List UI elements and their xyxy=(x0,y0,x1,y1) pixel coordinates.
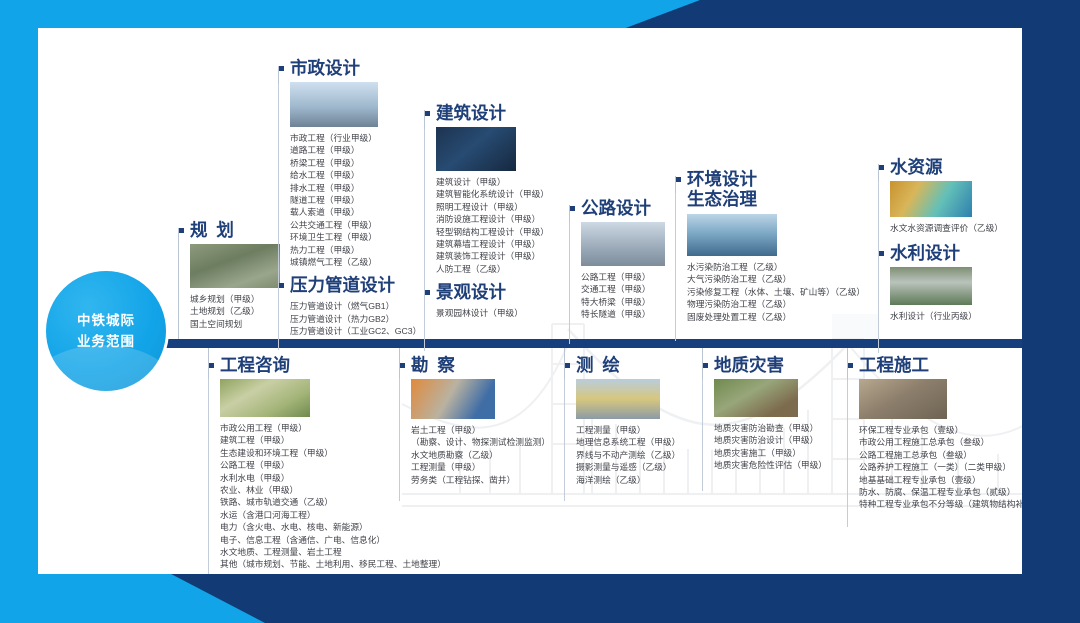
list-item: 土地规划（乙级） xyxy=(190,305,278,317)
block-rail xyxy=(675,193,676,341)
list-item: 特种工程专业承包不分等级（建筑物结构补强） xyxy=(859,498,1022,510)
block-rail xyxy=(208,379,209,574)
list-item: 消防设施工程设计（甲级） xyxy=(436,213,569,225)
square-bullet-icon xyxy=(879,165,884,170)
list-item: 地理信息系统工程（甲级） xyxy=(576,436,704,448)
list-item: 桥梁工程（甲级） xyxy=(290,157,428,169)
block-zixun-items: 市政公用工程（甲级） 建筑工程（甲级） 生态建设和环境工程（甲级） 公路工程（甲… xyxy=(220,422,408,571)
block-cehui-title-row: 测 绘 xyxy=(564,355,704,375)
list-item: 市政公用工程施工总承包（叁级） xyxy=(859,436,1022,448)
block-cehui-title: 测 绘 xyxy=(576,355,622,375)
list-item: 水运（含港口河海工程） xyxy=(220,509,408,521)
block-shigong-title-row: 工程施工 xyxy=(847,355,1022,375)
list-item: 压力管道设计（燃气GB1） xyxy=(290,300,428,312)
block-zixun-title-row: 工程咨询 xyxy=(208,355,408,375)
square-bullet-icon xyxy=(400,363,405,368)
block-jianzhu-title-row: 建筑设计 xyxy=(424,103,569,123)
block-guihua-title: 规 划 xyxy=(190,220,236,240)
block-zixun-title: 工程咨询 xyxy=(220,355,290,375)
block-shigong-title: 工程施工 xyxy=(859,355,929,375)
block-yalidaoguan-items: 压力管道设计（燃气GB1） 压力管道设计（热力GB2） 压力管道设计（工业GC2… xyxy=(290,300,428,337)
block-kancha-title: 勘 察 xyxy=(411,355,457,375)
block-dizhizaihai-items: 地质灾害防治勘查（甲级） 地质灾害防治设计（甲级） 地质灾害施工（甲级） 地质灾… xyxy=(714,422,852,472)
list-item: 水文地质勘察（乙级） xyxy=(411,449,567,461)
list-item: 摄影测量与遥感（乙级） xyxy=(576,461,704,473)
square-bullet-icon xyxy=(565,363,570,368)
block-huanjing-title: 环境设计 xyxy=(687,169,757,189)
block-jianzhu-title: 建筑设计 xyxy=(436,103,506,123)
block-yalidaoguan-title: 压力管道设计 xyxy=(290,275,395,295)
block-huanjing-title-row: 环境设计 xyxy=(675,169,880,189)
block-shigong[interactable]: 工程施工 环保工程专业承包（壹级） 市政公用工程施工总承包（叁级） 公路工程施工… xyxy=(847,355,1022,511)
block-shuili-title-row: 水利设计 xyxy=(878,243,1008,263)
background-navy-right-band xyxy=(1022,0,1080,623)
list-item: 其他（城市规划、节能、土地利用、移民工程、土地整理） xyxy=(220,558,408,570)
list-item: 工程测量（甲级） xyxy=(576,424,704,436)
list-item: 国土空间规划 xyxy=(190,318,278,330)
square-bullet-icon xyxy=(676,177,681,182)
block-jingguan-title-row: 景观设计 xyxy=(424,282,569,302)
list-item: 给水工程（甲级） xyxy=(290,169,428,181)
thumb-highway-bridge xyxy=(581,222,665,266)
list-item: 城乡规划（甲级） xyxy=(190,293,278,305)
block-shuiziyuan[interactable]: 水资源 水文水资源调查评价（乙级） 水利设计 水利设计（行业丙级） xyxy=(878,157,1008,323)
list-item: 市政公用工程（甲级） xyxy=(220,422,408,434)
list-item: 电子、信息工程（含通信、广电、信息化） xyxy=(220,534,408,546)
list-item: 劳务类（工程钻探、凿井） xyxy=(411,474,567,486)
list-item: 景观园林设计（甲级） xyxy=(436,307,569,319)
list-item: 市政工程（行业甲级） xyxy=(290,132,428,144)
list-item: 物理污染防治工程（乙级） xyxy=(687,298,880,310)
block-shuiziyuan-title: 水资源 xyxy=(890,157,943,177)
block-shizheng-items: 市政工程（行业甲级） 道路工程（甲级） 桥梁工程（甲级） 给水工程（甲级） 排水… xyxy=(290,132,428,268)
list-item: （勘察、设计、物探测试检测监测） xyxy=(411,436,567,448)
block-kancha-title-row: 勘 察 xyxy=(399,355,567,375)
block-gonglu[interactable]: 公路设计 公路工程（甲级） 交通工程（甲级） 特大桥梁（甲级） 特长隧道（甲级） xyxy=(569,198,675,321)
block-dizhizaihai-title-row: 地质灾害 xyxy=(702,355,852,375)
list-item: 水利设计（行业丙级） xyxy=(890,310,1008,322)
block-rail xyxy=(878,181,879,353)
block-shuiziyuan-title-row: 水资源 xyxy=(878,157,1008,177)
list-item: 排水工程（甲级） xyxy=(290,182,428,194)
square-bullet-icon xyxy=(279,66,284,71)
square-bullet-icon xyxy=(703,363,708,368)
thumb-dam-spillway xyxy=(890,267,972,305)
list-item: 环境卫生工程（甲级） xyxy=(290,231,428,243)
list-item: 建筑幕墙工程设计（甲级） xyxy=(436,238,569,250)
block-huanjing[interactable]: 环境设计 生态治理 水污染防治工程（乙级） 大气污染防治工程（乙级） 污染修复工… xyxy=(675,169,880,323)
block-shizheng-title-row: 市政设计 xyxy=(278,58,428,78)
block-dizhizaihai-title: 地质灾害 xyxy=(714,355,784,375)
list-item: 道路工程（甲级） xyxy=(290,144,428,156)
block-huanjing-items: 水污染防治工程（乙级） 大气污染防治工程（乙级） 污染修复工程（水体、土壤、矿山… xyxy=(687,261,880,323)
block-cehui-items: 工程测量（甲级） 地理信息系统工程（甲级） 界线与不动产测绘（乙级） 摄影测量与… xyxy=(576,424,704,486)
list-item: 建筑工程（甲级） xyxy=(220,434,408,446)
block-rail xyxy=(847,379,848,527)
block-zixun[interactable]: 工程咨询 市政公用工程（甲级） 建筑工程（甲级） 生态建设和环境工程（甲级） 公… xyxy=(208,355,408,574)
square-bullet-icon xyxy=(425,111,430,116)
list-item: 生态建设和环境工程（甲级） xyxy=(220,447,408,459)
list-item: 水污染防治工程（乙级） xyxy=(687,261,880,273)
block-huanjing-title2: 生态治理 xyxy=(687,189,880,210)
block-rail xyxy=(424,129,425,351)
list-item: 建筑智能化系统设计（甲级） xyxy=(436,188,569,200)
block-rail xyxy=(569,222,570,344)
list-item: 特大桥梁（甲级） xyxy=(581,296,675,308)
block-dizhizaihai[interactable]: 地质灾害 地质灾害防治勘查（甲级） 地质灾害防治设计（甲级） 地质灾害施工（甲级… xyxy=(702,355,852,472)
thumb-lake-water xyxy=(687,214,777,256)
block-gonglu-title-row: 公路设计 xyxy=(569,198,675,218)
block-shuiziyuan-items: 水文水资源调查评价（乙级） xyxy=(890,222,1008,234)
list-item: 建筑设计（甲级） xyxy=(436,176,569,188)
list-item: 地质灾害防治设计（甲级） xyxy=(714,434,852,446)
list-item: 防水、防腐、保温工程专业承包（贰级） xyxy=(859,486,1022,498)
list-item: 载人索道（甲级） xyxy=(290,206,428,218)
block-shuili-title: 水利设计 xyxy=(890,243,960,263)
block-shizheng[interactable]: 市政设计 市政工程（行业甲级） 道路工程（甲级） 桥梁工程（甲级） 给水工程（甲… xyxy=(278,58,428,338)
list-item: 水利水电（甲级） xyxy=(220,472,408,484)
block-kancha[interactable]: 勘 察 岩土工程（甲级） （勘察、设计、物探测试检测监测） 水文地质勘察（乙级）… xyxy=(399,355,567,486)
list-item: 污染修复工程（水体、土壤、矿山等）（乙级） xyxy=(687,286,880,298)
list-item: 固废处理处置工程（乙级） xyxy=(687,311,880,323)
list-item: 界线与不动产测绘（乙级） xyxy=(576,449,704,461)
list-item: 压力管道设计（工业GC2、GC3） xyxy=(290,325,428,337)
square-bullet-icon xyxy=(879,251,884,256)
list-item: 岩土工程（甲级） xyxy=(411,424,567,436)
list-item: 热力工程（甲级） xyxy=(290,244,428,256)
infographic-root: 中铁城际 业务范围 规 划 城乡规划（甲级） 土地规划（乙级） xyxy=(0,0,1080,623)
list-item: 城镇燃气工程（乙级） xyxy=(290,256,428,268)
thumb-survey-crew xyxy=(411,379,495,419)
list-item: 环保工程专业承包（壹级） xyxy=(859,424,1022,436)
list-item: 交通工程（甲级） xyxy=(581,283,675,295)
block-jianzhu[interactable]: 建筑设计 建筑设计（甲级） 建筑智能化系统设计（甲级） 照明工程设计（甲级） 消… xyxy=(424,103,569,320)
block-gonglu-title: 公路设计 xyxy=(581,198,651,218)
list-item: 压力管道设计（热力GB2） xyxy=(290,313,428,325)
list-item: 轻型钢结构工程设计（甲级） xyxy=(436,226,569,238)
list-item: 隧道工程（甲级） xyxy=(290,194,428,206)
block-jingguan-title: 景观设计 xyxy=(436,282,506,302)
square-bullet-icon xyxy=(848,363,853,368)
block-jianzhu-items: 建筑设计（甲级） 建筑智能化系统设计（甲级） 照明工程设计（甲级） 消防设施工程… xyxy=(436,176,569,275)
list-item: 公路工程（甲级） xyxy=(220,459,408,471)
list-item: 地质灾害危险性评估（甲级） xyxy=(714,459,852,471)
block-guihua-items: 城乡规划（甲级） 土地规划（乙级） 国土空间规划 xyxy=(190,293,278,330)
square-bullet-icon xyxy=(425,290,430,295)
list-item: 农业、林业（甲级） xyxy=(220,484,408,496)
list-item: 水文地质、工程测量、岩土工程 xyxy=(220,546,408,558)
block-guihua[interactable]: 规 划 城乡规划（甲级） 土地规划（乙级） 国土空间规划 xyxy=(178,220,278,330)
thumb-construction-crane xyxy=(859,379,947,419)
block-guihua-title-row: 规 划 xyxy=(178,220,278,240)
hub-title-line2: 业务范围 xyxy=(77,331,135,352)
block-rail xyxy=(564,379,565,501)
list-item: 地质灾害防治勘查（甲级） xyxy=(714,422,852,434)
list-item: 工程测量（甲级） xyxy=(411,461,567,473)
block-jingguan-items: 景观园林设计（甲级） xyxy=(436,307,569,319)
list-item: 公路工程（甲级） xyxy=(581,271,675,283)
hub-title-line1: 中铁城际 xyxy=(77,310,135,331)
list-item: 电力（含火电、水电、核电、新能源） xyxy=(220,521,408,533)
list-item: 公共交通工程（甲级） xyxy=(290,219,428,231)
list-item: 地基基础工程专业承包（壹级） xyxy=(859,474,1022,486)
square-bullet-icon xyxy=(179,228,184,233)
block-gonglu-items: 公路工程（甲级） 交通工程（甲级） 特大桥梁（甲级） 特长隧道（甲级） xyxy=(581,271,675,321)
list-item: 公路养护工程施工（一类）（二类甲级） xyxy=(859,461,1022,473)
list-item: 建筑装饰工程设计（甲级） xyxy=(436,250,569,262)
content-canvas: 中铁城际 业务范围 规 划 城乡规划（甲级） 土地规划（乙级） xyxy=(38,28,1022,574)
list-item: 铁路、城市轨道交通（乙级） xyxy=(220,496,408,508)
thumb-aerial-town xyxy=(190,244,280,288)
thumb-city-road xyxy=(290,82,378,127)
block-rail xyxy=(702,379,703,491)
list-item: 海洋测绘（乙级） xyxy=(576,474,704,486)
block-rail xyxy=(399,379,400,501)
block-shizheng-title: 市政设计 xyxy=(290,58,360,78)
block-shigong-items: 环保工程专业承包（壹级） 市政公用工程施工总承包（叁级） 公路工程施工总承包（叁… xyxy=(859,424,1022,511)
block-shuili-items: 水利设计（行业丙级） xyxy=(890,310,1008,322)
square-bullet-icon xyxy=(570,206,575,211)
list-item: 大气污染防治工程（乙级） xyxy=(687,273,880,285)
block-yalidaoguan-title-row: 压力管道设计 xyxy=(278,275,428,295)
square-bullet-icon xyxy=(209,363,214,368)
block-cehui[interactable]: 测 绘 工程测量（甲级） 地理信息系统工程（甲级） 界线与不动产测绘（乙级） 摄… xyxy=(564,355,704,486)
list-item: 公路工程施工总承包（叁级） xyxy=(859,449,1022,461)
thumb-blue-architecture xyxy=(436,127,516,171)
block-kancha-items: 岩土工程（甲级） （勘察、设计、物探测试检测监测） 水文地质勘察（乙级） 工程测… xyxy=(411,424,567,486)
square-bullet-icon xyxy=(279,283,284,288)
timeline-spine xyxy=(166,339,1022,348)
list-item: 照明工程设计（甲级） xyxy=(436,201,569,213)
list-item: 水文水资源调查评价（乙级） xyxy=(890,222,1008,234)
list-item: 人防工程（乙级） xyxy=(436,263,569,275)
list-item: 特长隧道（甲级） xyxy=(581,308,675,320)
hub-badge: 中铁城际 业务范围 xyxy=(46,271,166,391)
block-rail xyxy=(278,84,279,350)
thumb-total-station xyxy=(576,379,660,419)
thumb-landslide xyxy=(714,379,798,417)
thumb-hydrology-map xyxy=(890,181,972,217)
thumb-site-plan xyxy=(220,379,310,417)
list-item: 地质灾害施工（甲级） xyxy=(714,447,852,459)
